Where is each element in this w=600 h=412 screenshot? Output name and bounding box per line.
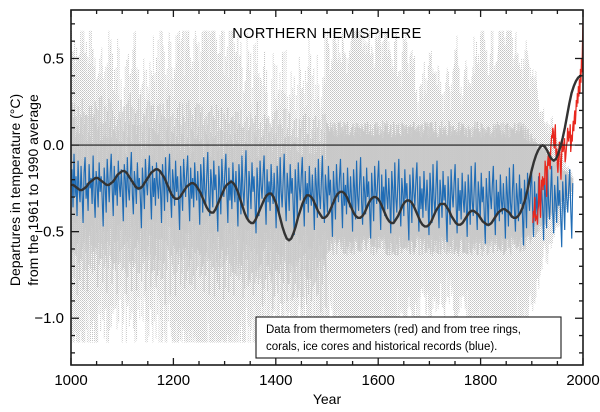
annotation-line-2: corals, ice cores and historical records… (266, 341, 497, 353)
x-tick-label: 1600 (362, 372, 395, 389)
x-tick-label: 1000 (54, 372, 87, 389)
chart-title: NORTHERN HEMISPHERE (232, 26, 421, 42)
climate-chart-figure: 100012001400160018002000 0.50.0−0.5−1.0 … (0, 0, 600, 412)
x-tick-label: 1400 (259, 372, 292, 389)
annotation-line-1: Data from thermometers (red) and from tr… (266, 324, 521, 336)
y-axis-label-line2: from the 1961 to 1990 average (25, 94, 41, 286)
data-source-annotation: Data from thermometers (red) and from tr… (256, 317, 561, 358)
x-tick-label: 2000 (566, 372, 599, 389)
y-tick-label: 0.5 (43, 50, 64, 67)
y-axis-label-line1: Departures in temperature (°C) (7, 94, 23, 286)
y-tick-label: 0.0 (43, 137, 64, 154)
x-tick-label: 1200 (157, 372, 190, 389)
y-tick-label: −1.0 (34, 310, 64, 327)
x-axis-label: Year (313, 391, 342, 407)
x-tick-label: 1800 (464, 372, 497, 389)
northern-hemisphere-temperature-chart: 100012001400160018002000 0.50.0−0.5−1.0 … (0, 0, 600, 412)
